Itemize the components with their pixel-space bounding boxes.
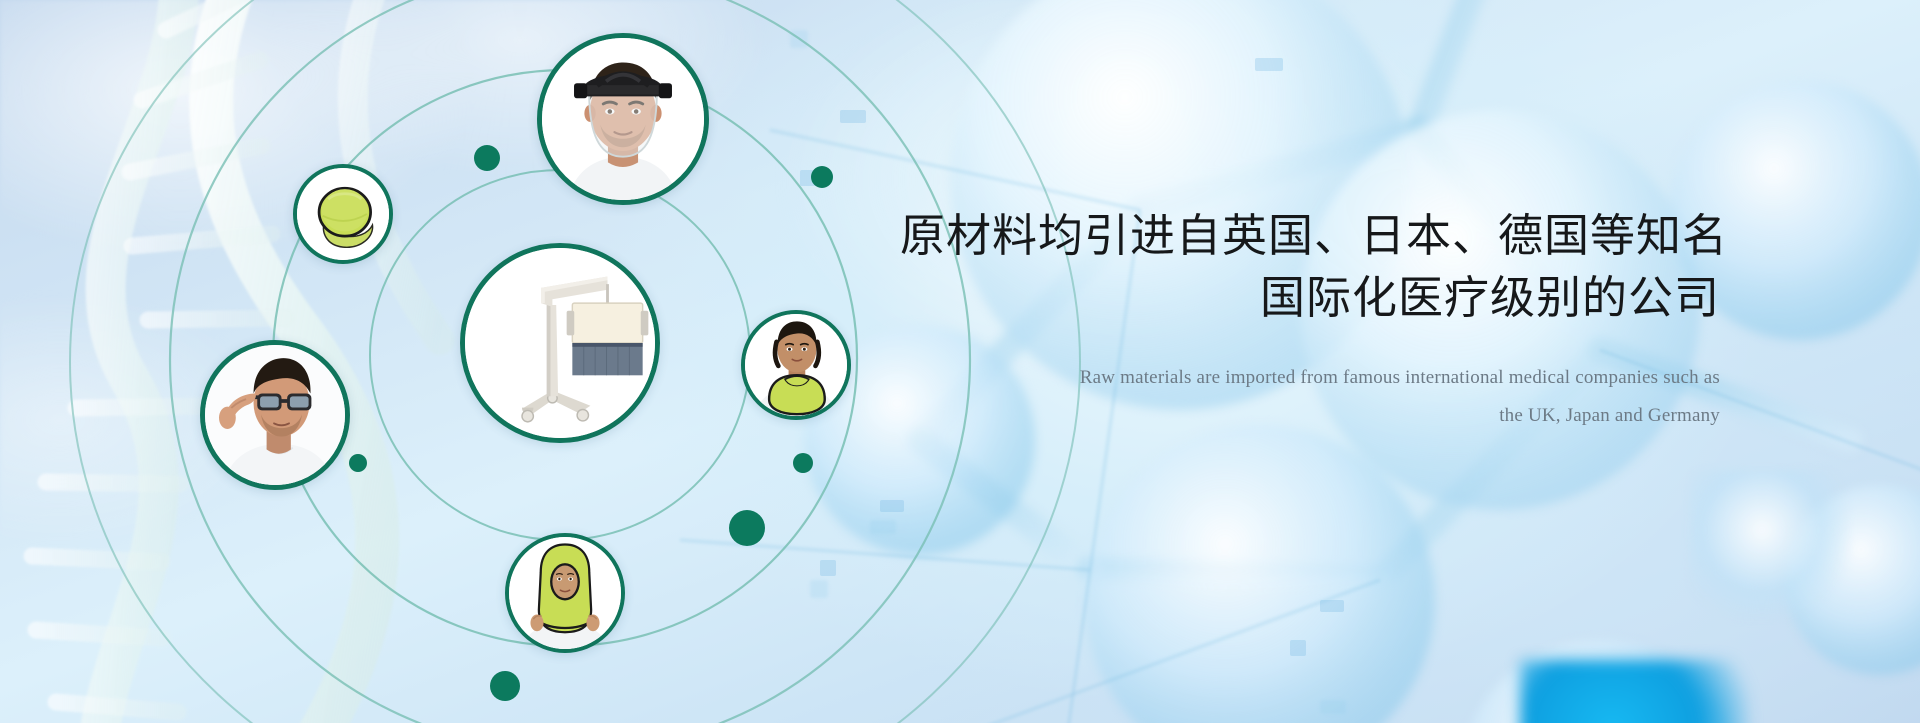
face-shield-photo	[542, 38, 704, 200]
bubble-lead-glasses[interactable]	[200, 340, 350, 490]
subtitle-line-2: the UK, Japan and Germany	[900, 397, 1720, 435]
bubble-protective-cap[interactable]	[293, 164, 393, 264]
protective-cap-photo	[297, 168, 389, 260]
bubble-face-shield-visor[interactable]	[537, 33, 709, 205]
subtitle-line-1: Raw materials are imported from famous i…	[1080, 367, 1720, 388]
subtitle: Raw materials are imported from famous i…	[900, 359, 1720, 435]
bubble-thyroid-collar[interactable]	[741, 310, 851, 420]
mobile-shield-screen-photo	[465, 248, 655, 438]
headline-line-1: 原材料均引进自英国、日本、德国等知名	[900, 210, 1728, 261]
hero-banner: 原材料均引进自英国、日本、德国等知名 国际化医疗级别的公司 Raw materi…	[0, 0, 1920, 723]
headline-line-2: 国际化医疗级别的公司	[900, 267, 1720, 329]
bubble-mobile-shield-screen[interactable]	[460, 243, 660, 443]
lead-glasses-photo	[205, 345, 345, 485]
thyroid-collar-photo	[745, 314, 847, 416]
banner-copy: 原材料均引进自英国、日本、德国等知名 国际化医疗级别的公司 Raw materi…	[900, 205, 1720, 435]
protective-hood-photo	[509, 537, 621, 649]
bubble-protective-hood[interactable]	[505, 533, 625, 653]
headline: 原材料均引进自英国、日本、德国等知名 国际化医疗级别的公司	[900, 205, 1720, 329]
